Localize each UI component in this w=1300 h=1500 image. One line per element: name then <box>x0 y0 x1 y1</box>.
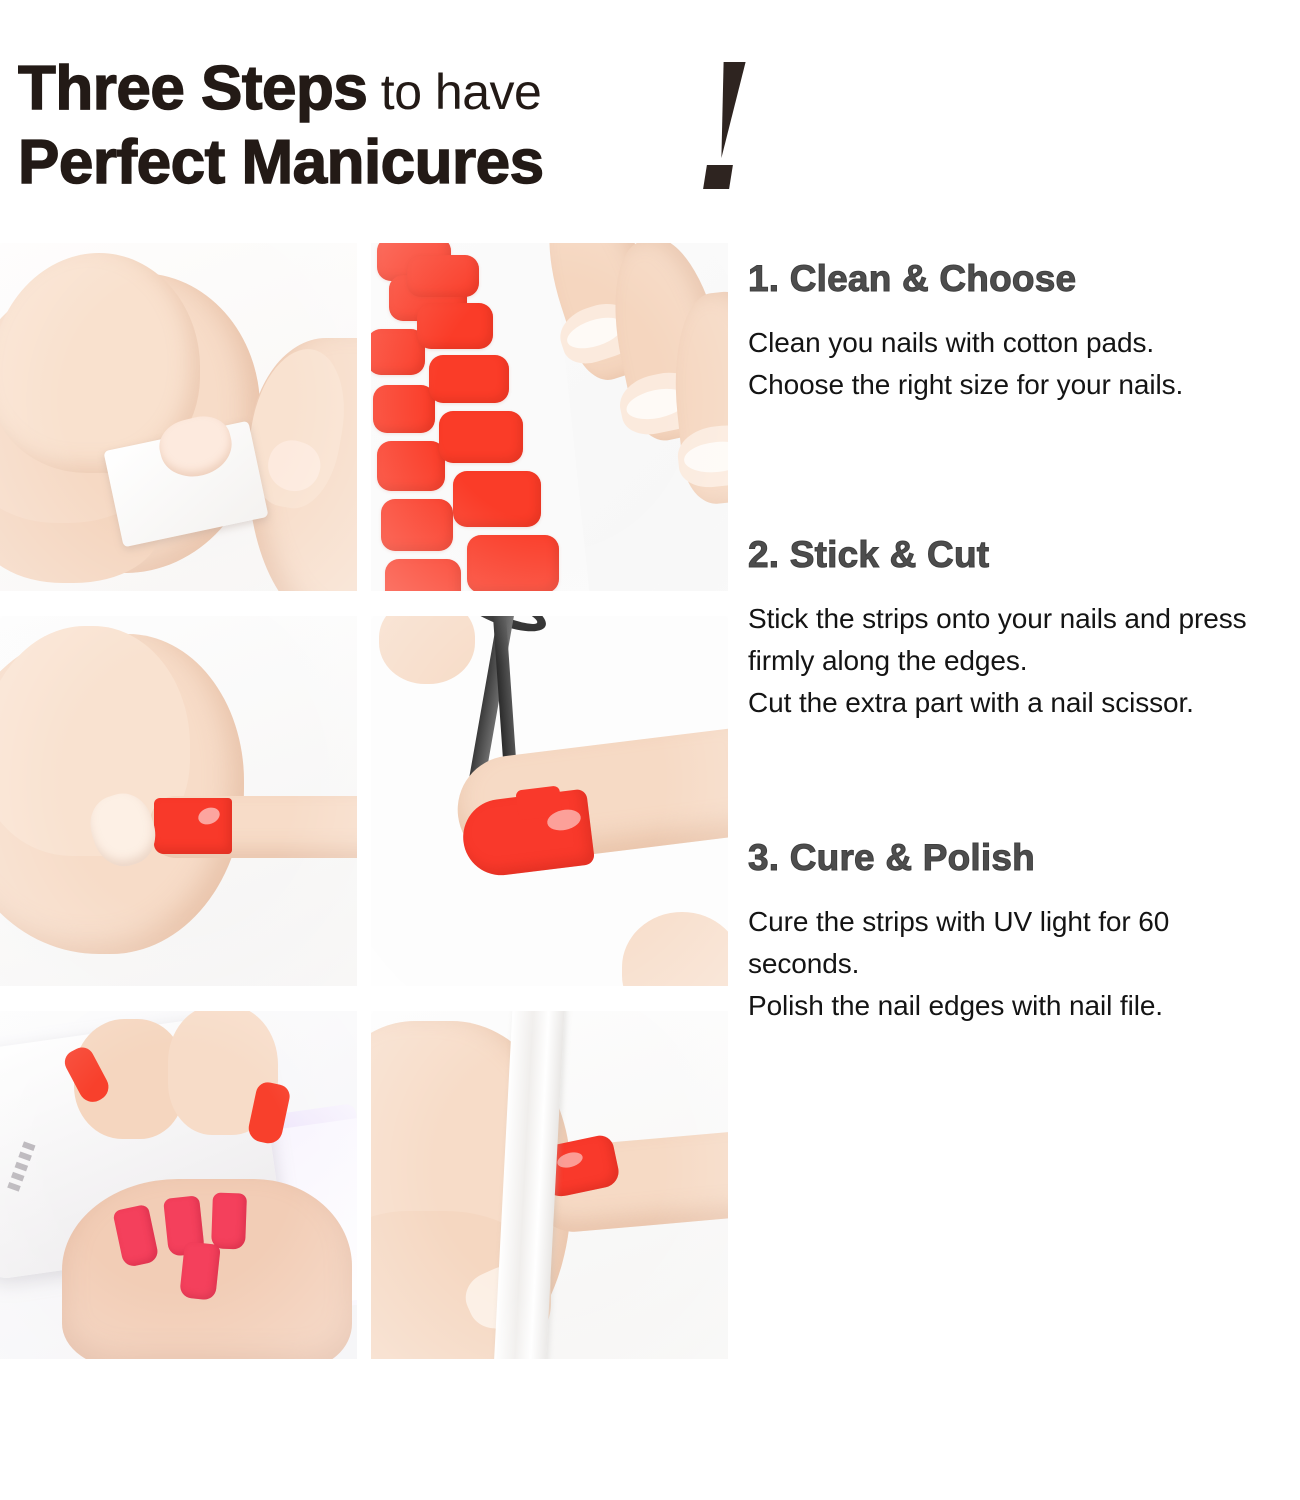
uv-lamp-curing-photo: ▮▮▮▮▮ <box>0 1011 357 1359</box>
photo-row-step-1 <box>0 243 728 591</box>
exclamation-mark-icon <box>702 62 772 187</box>
step-2-heading: 2. Stick & Cut <box>748 534 1288 576</box>
steps-column: 1. Clean & Choose Clean you nails with c… <box>748 243 1288 1027</box>
step-2-line-2: Cut the extra part with a nail scissor. <box>748 682 1288 724</box>
step-3: 3. Cure & Polish Cure the strips with UV… <box>748 837 1288 1027</box>
photo-row-step-2 <box>0 616 728 986</box>
step-3-line-1: Cure the strips with UV light for 60 sec… <box>748 901 1288 985</box>
title-strong-2: Perfect Manicures <box>18 128 544 197</box>
photo-row-step-3: ▮▮▮▮▮ <box>0 1011 728 1359</box>
step-3-heading: 3. Cure & Polish <box>748 837 1288 879</box>
step-3-body: Cure the strips with UV light for 60 sec… <box>748 901 1288 1027</box>
step-3-line-2: Polish the nail edges with nail file. <box>748 985 1288 1027</box>
cotton-pad-photo <box>0 243 357 591</box>
step-1-body: Clean you nails with cotton pads. Choose… <box>748 322 1288 406</box>
photo-grid: ▮▮▮▮▮ <box>0 243 728 1384</box>
step-2-body: Stick the strips onto your nails and pre… <box>748 598 1288 724</box>
nail-file-polish-photo <box>371 1011 728 1359</box>
step-1-heading: 1. Clean & Choose <box>748 258 1288 300</box>
step-2: 2. Stick & Cut Stick the strips onto you… <box>748 534 1288 724</box>
nail-strip-sheet-photo <box>371 243 728 591</box>
lamp-brand-logo: ▮▮▮▮▮ <box>2 1114 61 1199</box>
stick-strip-photo <box>0 616 357 986</box>
title-line-1: Three Steps to have <box>18 58 818 120</box>
step-2-line-1: Stick the strips onto your nails and pre… <box>748 598 1288 682</box>
title-light-1: to have <box>367 64 541 120</box>
cut-strip-scissors-photo <box>371 616 728 986</box>
title-strong-1: Three Steps <box>18 54 367 123</box>
instruction-graphic: Three Steps to have Perfect Manicures <box>0 0 1300 1500</box>
step-1-line-2: Choose the right size for your nails. <box>748 364 1288 406</box>
step-1-line-1: Clean you nails with cotton pads. <box>748 322 1288 364</box>
page-title: Three Steps to have Perfect Manicures <box>18 58 818 194</box>
step-1: 1. Clean & Choose Clean you nails with c… <box>748 258 1288 406</box>
applied-strip <box>154 798 232 854</box>
title-line-2: Perfect Manicures <box>18 132 818 194</box>
